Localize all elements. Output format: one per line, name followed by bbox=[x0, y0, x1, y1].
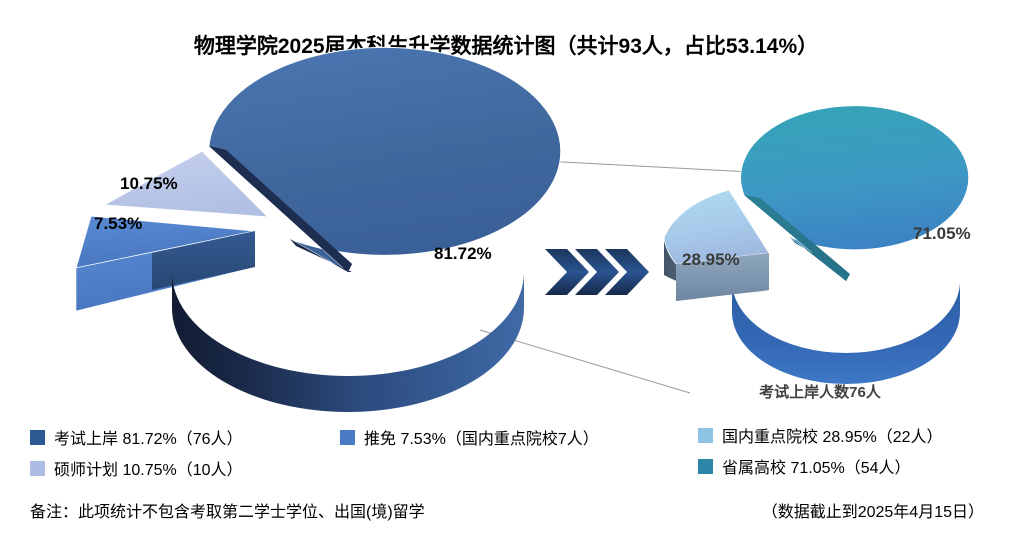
legend-swatch-zhongdian bbox=[698, 428, 713, 443]
legend-label-zhongdian: 国内重点院校 28.95%（22人） bbox=[722, 423, 943, 447]
main-label-10: 10.75% bbox=[120, 174, 178, 194]
legend-swatch-shengshu bbox=[698, 459, 713, 474]
sub-label-71: 71.05% bbox=[913, 224, 971, 244]
legend-item-zhongdian[interactable]: 国内重点院校 28.95%（22人） bbox=[698, 423, 943, 447]
legend-swatch-kaoshi bbox=[30, 430, 45, 445]
legend-item-shuoshi[interactable]: 硕师计划 10.75%（10人） bbox=[30, 456, 243, 480]
legend-label-tuimian: 推免 7.53%（国内重点院校7人） bbox=[364, 425, 599, 449]
sub-chart-caption: 考试上岸人数76人 bbox=[700, 381, 940, 402]
chart-page: 物理学院2025届本科生升学数据统计图（共计93人，占比53.14%） bbox=[0, 0, 1012, 545]
legend-swatch-tuimian bbox=[340, 430, 355, 445]
sub-slice-省属高校[interactable] bbox=[732, 106, 969, 384]
sub-slice-国内重点院校[interactable] bbox=[664, 190, 769, 301]
footnote-right: （数据截止到2025年4月15日） bbox=[762, 498, 984, 522]
legend-label-shengshu: 省属高校 71.05%（54人） bbox=[722, 454, 911, 478]
sub-label-28: 28.95% bbox=[682, 250, 740, 270]
main-pie bbox=[76, 47, 561, 412]
legend-item-shengshu[interactable]: 省属高校 71.05%（54人） bbox=[698, 454, 911, 478]
main-label-7: 7.53% bbox=[94, 214, 142, 234]
progress-arrows bbox=[545, 249, 649, 295]
legend-swatch-shuoshi bbox=[30, 461, 45, 476]
sub-pie bbox=[664, 106, 969, 384]
legend-label-shuoshi: 硕师计划 10.75%（10人） bbox=[54, 456, 243, 480]
main-label-81: 81.72% bbox=[434, 244, 492, 264]
footnote-left: 备注：此项统计不包含考取第二学士学位、出国(境)留学 bbox=[30, 498, 425, 522]
legend-item-tuimian[interactable]: 推免 7.53%（国内重点院校7人） bbox=[340, 425, 599, 449]
legend-label-kaoshi: 考试上岸 81.72%（76人） bbox=[54, 425, 243, 449]
legend-item-kaoshi[interactable]: 考试上岸 81.72%（76人） bbox=[30, 425, 243, 449]
